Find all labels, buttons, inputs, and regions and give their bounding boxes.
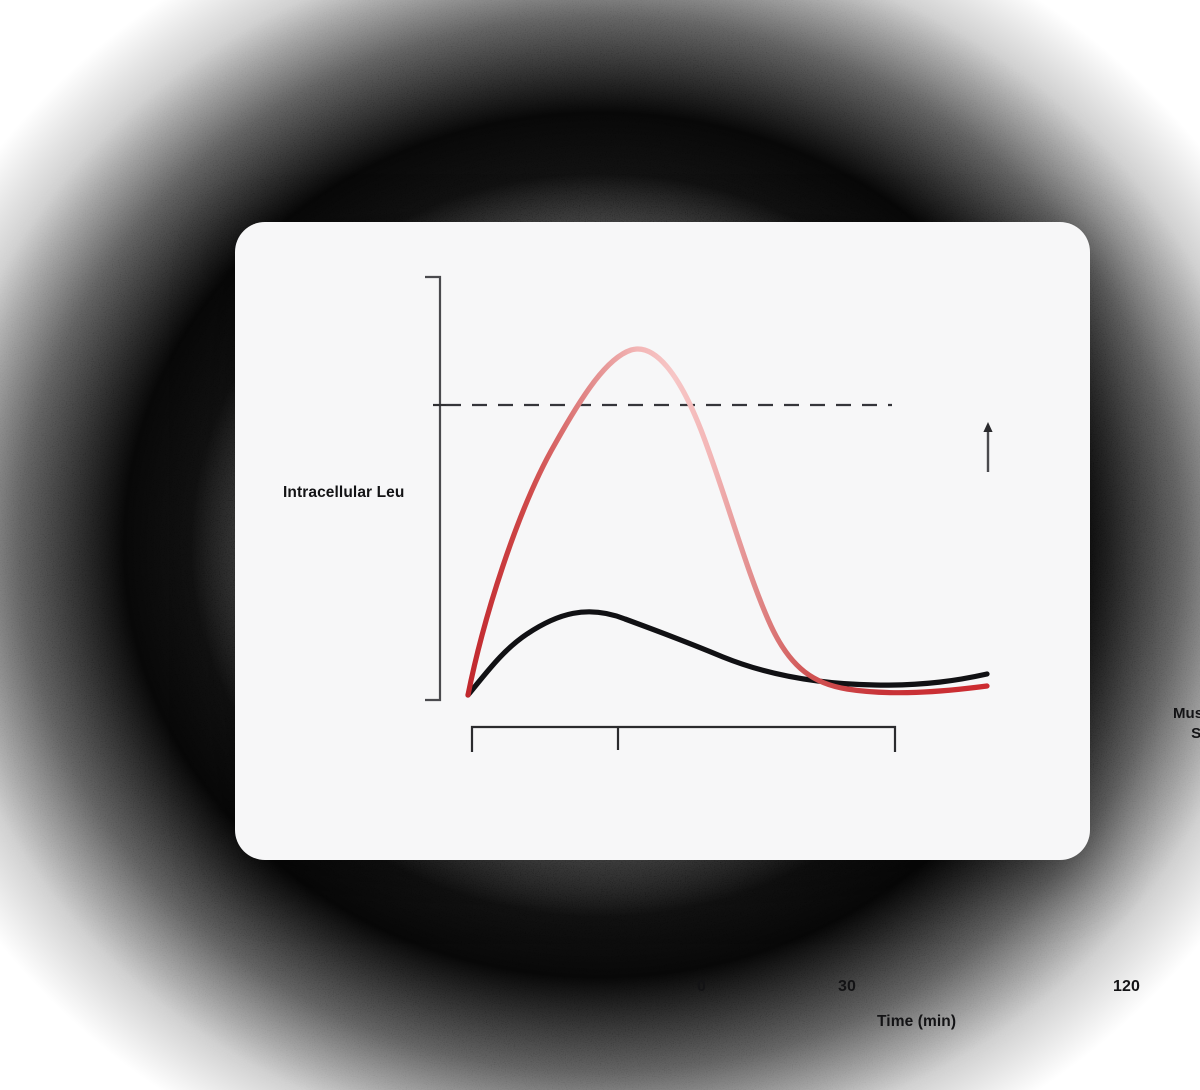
figure-card: Intracellular Leu Muscle Protein Synthes… [235,222,1090,860]
series-line-sustained [468,612,987,695]
muscle-protein-synthesis-label: Muscle Protein Synthesis [1167,704,1200,744]
x-tick-label-30: 30 [838,978,856,996]
chart-canvas [235,222,1090,860]
y-axis-label: Intracellular Leu [283,484,404,502]
arrow-up-icon [983,422,992,472]
series-line-bolus [468,349,987,695]
x-tick-label-120: 120 [1113,978,1140,996]
y-axis-bracket [425,277,440,700]
x-axis-bracket [472,727,895,752]
x-axis-title: Time (min) [877,1013,956,1031]
screenshot-root: Intracellular Leu Muscle Protein Synthes… [0,0,1200,1090]
x-tick-label-0: 0 [697,978,706,996]
